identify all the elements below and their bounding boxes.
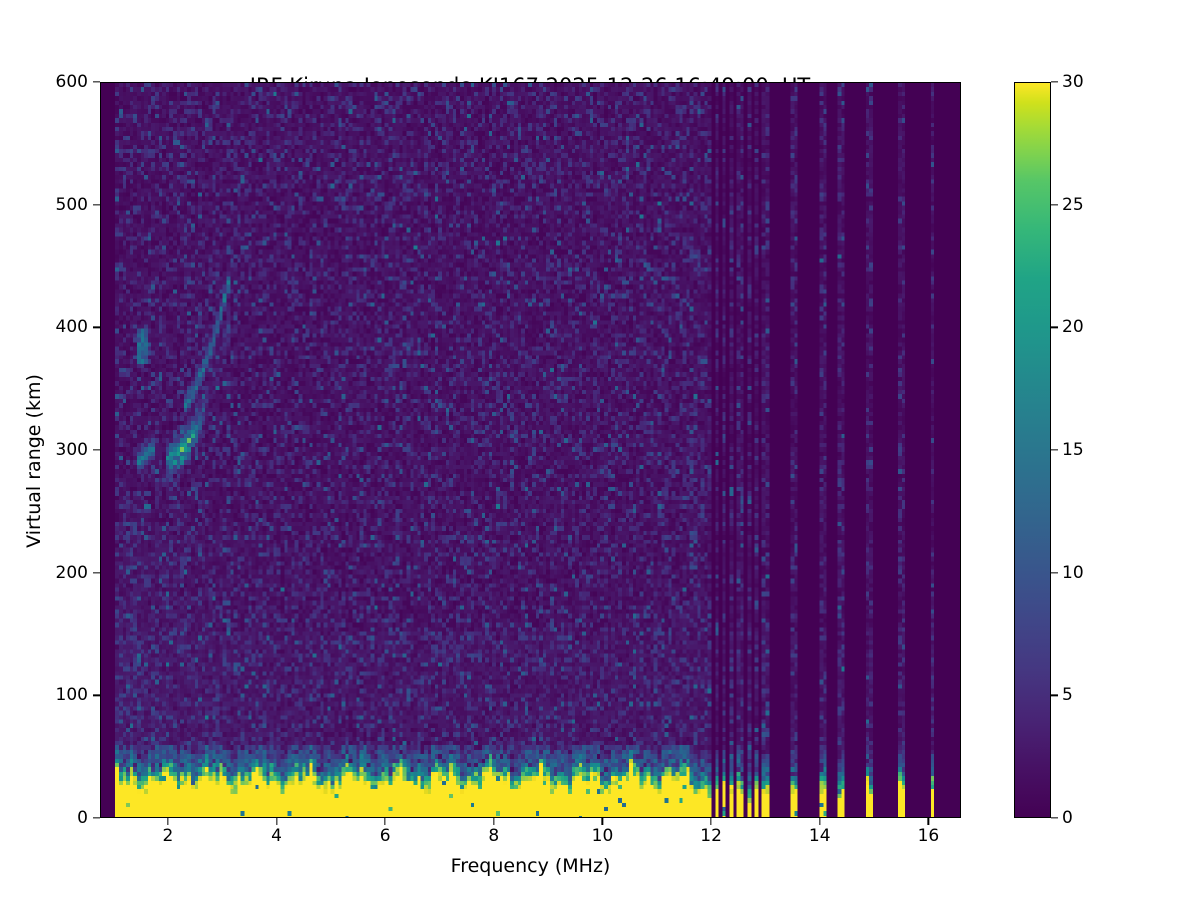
colorbar-tick-mark-20 (1051, 327, 1058, 328)
x-tick-label-8: 8 (488, 826, 499, 846)
x-axis-label: Frequency (MHz) (100, 855, 961, 877)
ionogram-figure: IRF Kiruna Ionosonde KI167 2025-12-26 16… (0, 0, 1200, 900)
x-tick-label-4: 4 (271, 826, 282, 846)
y-tick-label-500: 500 (8, 195, 88, 215)
y-tick-label-100: 100 (8, 685, 88, 705)
x-tick-mark-12 (710, 818, 711, 825)
y-tick-mark-100 (93, 695, 100, 696)
x-tick-label-14: 14 (809, 826, 831, 846)
x-tick-label-10: 10 (592, 826, 614, 846)
colorbar-tick-mark-30 (1051, 81, 1058, 82)
x-tick-mark-4 (276, 818, 277, 825)
y-tick-mark-300 (93, 449, 100, 450)
y-tick-mark-500 (93, 204, 100, 205)
y-tick-label-600: 600 (8, 72, 88, 92)
x-tick-mark-6 (385, 818, 386, 825)
colorbar-tick-label-25: 25 (1062, 195, 1084, 215)
x-tick-label-16: 16 (918, 826, 940, 846)
colorbar-tick-mark-10 (1051, 572, 1058, 573)
y-tick-mark-600 (93, 81, 100, 82)
y-tick-mark-400 (93, 327, 100, 328)
colorbar-tick-label-10: 10 (1062, 563, 1084, 583)
colorbar[interactable]: 051015202530 (1014, 82, 1051, 818)
colorbar-tick-label-15: 15 (1062, 440, 1084, 460)
x-tick-mark-8 (493, 818, 494, 825)
x-tick-mark-16 (928, 818, 929, 825)
colorbar-gradient (1014, 82, 1051, 818)
colorbar-tick-mark-25 (1051, 204, 1058, 205)
x-tick-mark-14 (819, 818, 820, 825)
y-tick-label-0: 0 (8, 808, 88, 828)
x-tick-label-2: 2 (162, 826, 173, 846)
y-tick-label-200: 200 (8, 563, 88, 583)
colorbar-tick-label-5: 5 (1062, 685, 1073, 705)
colorbar-tick-mark-5 (1051, 695, 1058, 696)
y-axis-label: Virtual range (km) (23, 251, 45, 671)
x-tick-label-12: 12 (700, 826, 722, 846)
plot-area[interactable] (100, 82, 961, 818)
colorbar-tick-label-30: 30 (1062, 72, 1084, 92)
y-tick-mark-0 (93, 817, 100, 818)
y-tick-mark-200 (93, 572, 100, 573)
x-tick-mark-10 (602, 818, 603, 825)
colorbar-tick-label-20: 20 (1062, 317, 1084, 337)
colorbar-tick-label-0: 0 (1062, 808, 1073, 828)
x-tick-mark-2 (167, 818, 168, 825)
y-tick-label-400: 400 (8, 317, 88, 337)
y-tick-label-300: 300 (8, 440, 88, 460)
colorbar-tick-mark-0 (1051, 817, 1058, 818)
colorbar-tick-mark-15 (1051, 449, 1058, 450)
x-tick-label-6: 6 (380, 826, 391, 846)
ionogram-heatmap[interactable] (101, 83, 960, 817)
